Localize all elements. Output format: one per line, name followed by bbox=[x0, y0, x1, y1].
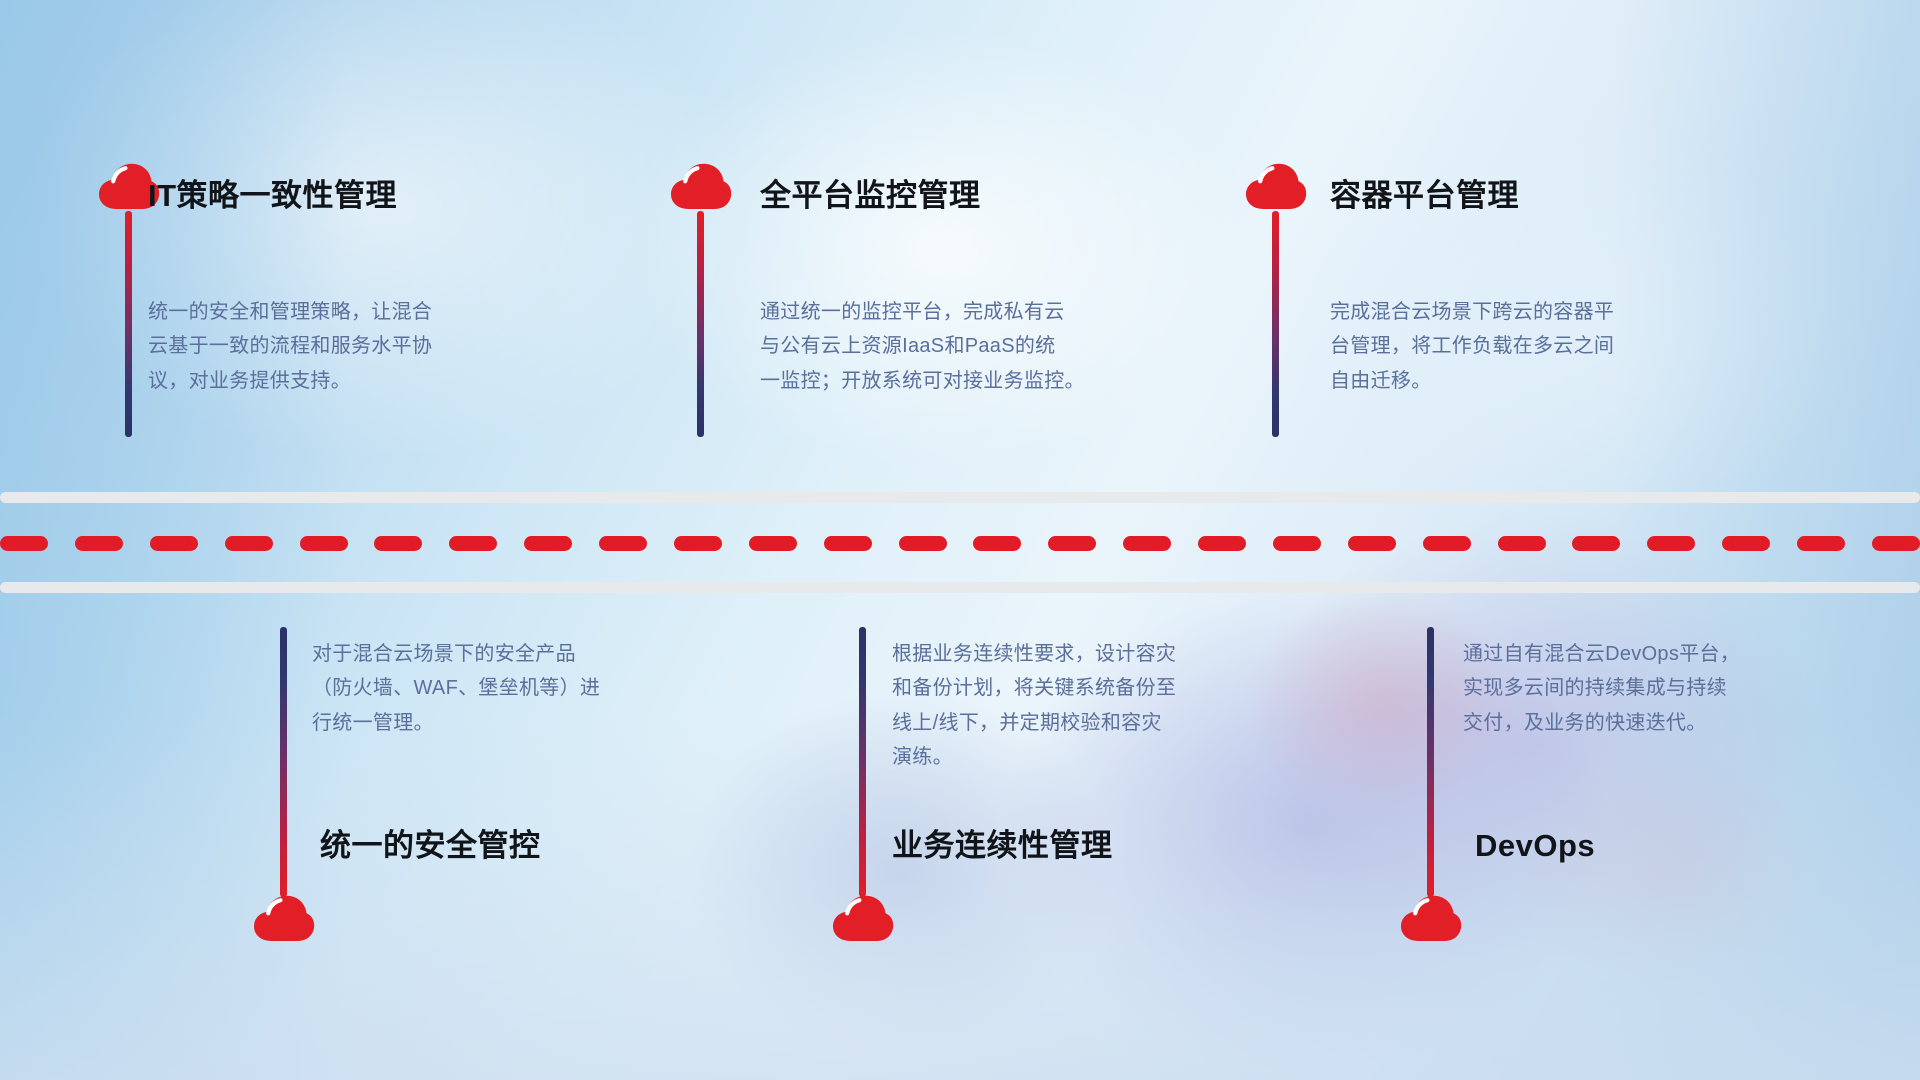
item-monitoring-heading-wrap: 全平台监控管理 bbox=[760, 180, 981, 211]
road-dash bbox=[225, 536, 273, 551]
item-security-heading-wrap: 统一的安全管控 bbox=[320, 830, 541, 861]
road-dash bbox=[449, 536, 497, 551]
item-heading: 统一的安全管控 bbox=[320, 830, 541, 861]
body-line: 通过自有混合云DevOps平台， bbox=[1463, 637, 1883, 671]
road-edge-bottom-line bbox=[0, 582, 1920, 593]
road-dash bbox=[1273, 536, 1321, 551]
road-dash bbox=[1048, 536, 1096, 551]
body-line: 交付，及业务的快速迭代。 bbox=[1463, 706, 1883, 740]
item-security-body: 对于混合云场景下的安全产品 （防火墙、WAF、堡垒机等）进 行统一管理。 bbox=[312, 637, 732, 740]
item-heading: DevOps bbox=[1475, 830, 1595, 861]
road-dash bbox=[1423, 536, 1471, 551]
body-line: 和备份计划，将关键系统备份至 bbox=[892, 671, 1312, 705]
infographic-canvas: IT策略一致性管理 统一的安全和管理策略，让混合 云基于一致的流程和服务水平协 … bbox=[0, 0, 1920, 1080]
body-line: 完成混合云场景下跨云的容器平 bbox=[1330, 295, 1750, 329]
body-line: 通过统一的监控平台，完成私有云 bbox=[760, 295, 1180, 329]
body-line: 议，对业务提供支持。 bbox=[148, 364, 548, 398]
connector-line bbox=[280, 627, 287, 897]
body-line: 实现多云间的持续集成与持续 bbox=[1463, 671, 1883, 705]
body-line: 自由迁移。 bbox=[1330, 364, 1750, 398]
connector-line bbox=[1272, 211, 1279, 437]
road-center-dashes bbox=[0, 536, 1920, 551]
road-dash bbox=[1797, 536, 1845, 551]
body-line: 统一的安全和管理策略，让混合 bbox=[148, 295, 548, 329]
road-dash bbox=[150, 536, 198, 551]
body-line: 与公有云上资源IaaS和PaaS的统 bbox=[760, 329, 1180, 363]
road-divider bbox=[0, 492, 1920, 593]
connector-line bbox=[697, 211, 704, 437]
road-dash bbox=[749, 536, 797, 551]
item-unified-security-control[interactable] bbox=[253, 627, 315, 943]
cloud-icon bbox=[1245, 163, 1307, 211]
item-monitoring-body: 通过统一的监控平台，完成私有云 与公有云上资源IaaS和PaaS的统 一监控；开… bbox=[760, 295, 1180, 398]
item-it-policy-body: 统一的安全和管理策略，让混合 云基于一致的流程和服务水平协 议，对业务提供支持。 bbox=[148, 295, 548, 398]
body-line: 一监控；开放系统可对接业务监控。 bbox=[760, 364, 1180, 398]
road-dash bbox=[75, 536, 123, 551]
road-dash bbox=[1872, 536, 1920, 551]
body-line: 对于混合云场景下的安全产品 bbox=[312, 637, 732, 671]
item-container-body: 完成混合云场景下跨云的容器平 台管理，将工作负载在多云之间 自由迁移。 bbox=[1330, 295, 1750, 398]
item-continuity-body: 根据业务连续性要求，设计容灾 和备份计划，将关键系统备份至 线上/线下，并定期校… bbox=[892, 637, 1312, 775]
road-dash bbox=[1123, 536, 1171, 551]
road-edge-top-line bbox=[0, 492, 1920, 503]
item-heading: 业务连续性管理 bbox=[892, 830, 1113, 861]
body-line: 演练。 bbox=[892, 740, 1312, 774]
item-full-platform-monitoring[interactable] bbox=[670, 163, 732, 437]
cloud-icon bbox=[670, 163, 732, 211]
road-dash bbox=[599, 536, 647, 551]
connector-line bbox=[859, 627, 866, 897]
road-dash bbox=[524, 536, 572, 551]
cloud-icon bbox=[832, 895, 894, 943]
body-line: 云基于一致的流程和服务水平协 bbox=[148, 329, 548, 363]
road-dash bbox=[1647, 536, 1695, 551]
road-dash bbox=[899, 536, 947, 551]
road-dash bbox=[824, 536, 872, 551]
road-dash bbox=[973, 536, 1021, 551]
item-heading: 全平台监控管理 bbox=[760, 180, 981, 211]
body-line: （防火墙、WAF、堡垒机等）进 bbox=[312, 671, 732, 705]
item-devops-heading-wrap: DevOps bbox=[1475, 830, 1595, 861]
body-line: 根据业务连续性要求，设计容灾 bbox=[892, 637, 1312, 671]
item-container-platform-management[interactable] bbox=[1245, 163, 1307, 437]
road-dash bbox=[300, 536, 348, 551]
road-dash bbox=[674, 536, 722, 551]
cloud-icon bbox=[1400, 895, 1462, 943]
item-heading: IT策略一致性管理 bbox=[148, 180, 397, 211]
road-dash bbox=[0, 536, 48, 551]
item-heading: 容器平台管理 bbox=[1330, 180, 1519, 211]
item-devops-body: 通过自有混合云DevOps平台， 实现多云间的持续集成与持续 交付，及业务的快速… bbox=[1463, 637, 1883, 740]
item-continuity-heading-wrap: 业务连续性管理 bbox=[892, 830, 1113, 861]
road-dash bbox=[1498, 536, 1546, 551]
item-it-policy-heading-wrap: IT策略一致性管理 bbox=[148, 180, 397, 211]
connector-line bbox=[125, 211, 132, 437]
road-dash bbox=[1198, 536, 1246, 551]
body-line: 线上/线下，并定期校验和容灾 bbox=[892, 706, 1312, 740]
item-devops[interactable] bbox=[1400, 627, 1462, 943]
body-line: 行统一管理。 bbox=[312, 706, 732, 740]
body-line: 台管理，将工作负载在多云之间 bbox=[1330, 329, 1750, 363]
item-business-continuity-management[interactable] bbox=[832, 627, 894, 943]
connector-line bbox=[1427, 627, 1434, 897]
item-container-heading-wrap: 容器平台管理 bbox=[1330, 180, 1519, 211]
road-dash bbox=[1572, 536, 1620, 551]
road-dash bbox=[1722, 536, 1770, 551]
road-dash bbox=[1348, 536, 1396, 551]
cloud-icon bbox=[253, 895, 315, 943]
road-dash bbox=[374, 536, 422, 551]
